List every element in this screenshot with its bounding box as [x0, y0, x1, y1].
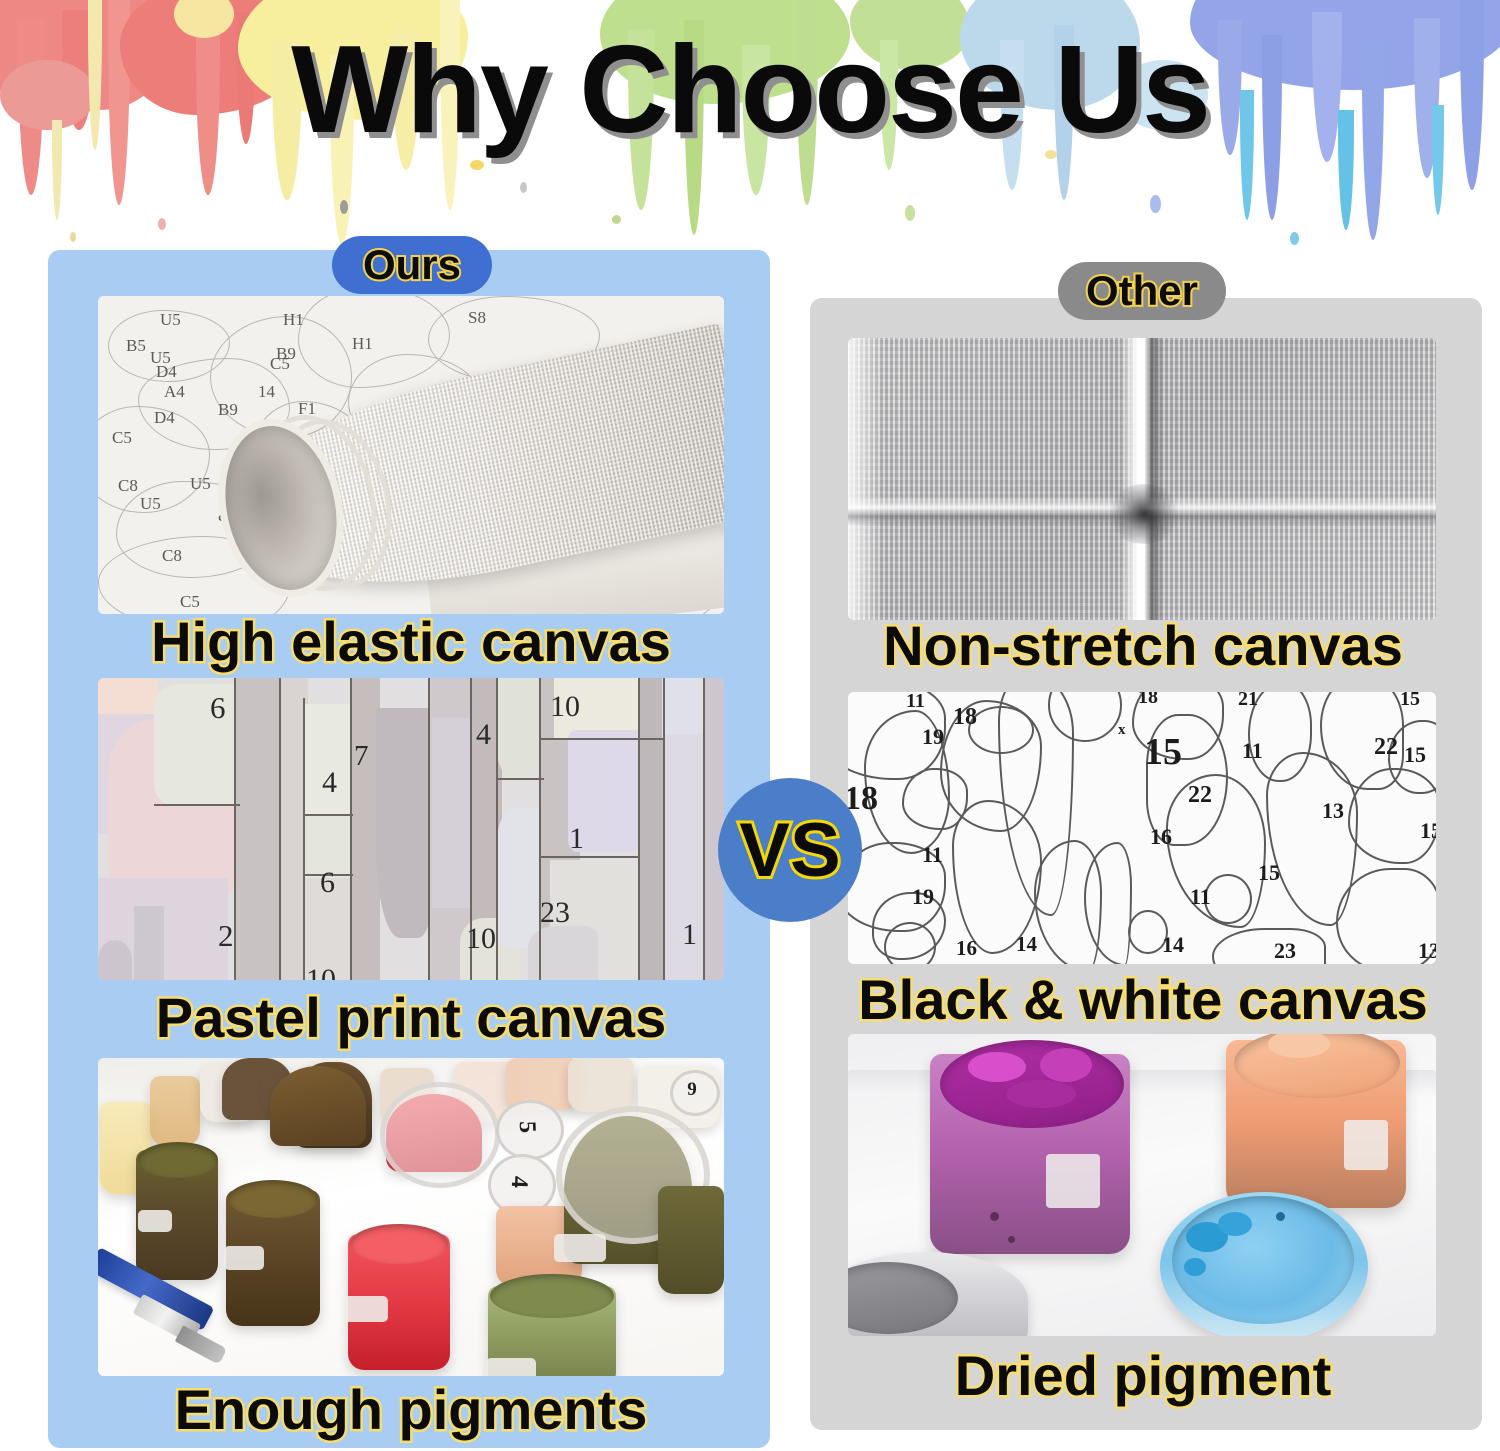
pastel-outline	[428, 678, 430, 980]
line-art-number: 18	[953, 704, 977, 731]
splatter-fleck	[70, 232, 76, 242]
vertical-crease	[1120, 338, 1164, 620]
pastel-outline	[663, 678, 665, 980]
dried-pigment-clump	[1006, 1080, 1076, 1108]
paint-pot-hinge	[554, 1234, 606, 1262]
canvas-code-label: U5	[190, 474, 211, 494]
line-art-number: 16	[1150, 824, 1172, 850]
crease-intersection	[1106, 484, 1182, 544]
line-art-outline	[884, 922, 936, 964]
dried-pigment-clump	[1040, 1048, 1092, 1082]
pastel-region-number: 4	[476, 718, 491, 752]
splatter-fleck	[470, 160, 484, 170]
canvas-code-label: C5	[112, 428, 132, 448]
paint-pot-hinge	[486, 1358, 536, 1376]
pastel-outline	[350, 678, 352, 980]
line-art-number: 15	[1258, 860, 1280, 886]
other-caption-dried-pigment: Dried pigment	[836, 1348, 1450, 1404]
pastel-outline	[303, 698, 305, 980]
pastel-outline	[234, 678, 236, 980]
paint-pot	[568, 1058, 634, 1112]
dried-pigment-clump	[968, 1052, 1026, 1082]
pastel-region-number: 2	[218, 918, 234, 954]
pastel-region-number: 6	[320, 866, 335, 900]
line-art-number: 11	[922, 842, 943, 868]
canvas-code-label: S8	[468, 308, 486, 328]
paint-pot	[150, 1076, 200, 1146]
pastel-region-number: 7	[354, 740, 369, 773]
splatter-fleck	[520, 182, 527, 193]
paint-pot-rim	[350, 1224, 448, 1264]
line-art-number: 15	[1400, 692, 1420, 711]
ours-image-pastel-print-canvas: 6 7 4 4 10 6 2 1 23 10 1 10 9 4	[98, 678, 724, 980]
line-art-number: 18	[1138, 692, 1158, 709]
pastel-outline	[703, 678, 705, 980]
canvas-code-label: U5	[140, 494, 161, 514]
line-art-number: 19	[912, 884, 934, 910]
line-art-number: 19	[922, 724, 944, 750]
pastel-outline	[539, 678, 541, 980]
canvas-code-label: C8	[118, 476, 138, 496]
line-art-number: 15	[1420, 818, 1436, 844]
pastel-region	[98, 940, 132, 980]
pastel-outline	[496, 778, 544, 780]
dried-pigment-clump	[1218, 1212, 1252, 1236]
line-art-number: x	[1118, 722, 1126, 739]
ours-image-enough-pigments: 9 5 4	[98, 1058, 724, 1376]
paint-pot-hinge	[344, 1296, 388, 1322]
page-title: Why Choose Us	[0, 28, 1500, 152]
dried-pigment-fleck	[1008, 1236, 1015, 1243]
paint-pot-hinge	[224, 1246, 264, 1270]
other-caption-non-stretch-canvas: Non-stretch canvas	[836, 618, 1450, 674]
other-image-dried-pigment	[848, 1034, 1436, 1336]
dried-pigment-fleck	[1276, 1212, 1285, 1221]
splatter-fleck	[1150, 195, 1161, 213]
line-art-number: 22	[1374, 734, 1398, 761]
canvas-code-label: U5	[160, 310, 181, 330]
dried-pigment-clump	[1184, 1258, 1206, 1276]
line-art-number: 16	[956, 936, 977, 961]
paint-pot	[658, 1186, 724, 1294]
canvas-code-label: H1	[283, 310, 304, 330]
pastel-region	[134, 906, 164, 980]
pastel-region-number: 23	[540, 896, 570, 930]
canvas-code-label: B9	[218, 400, 238, 420]
pastel-outline	[540, 856, 640, 858]
splatter-fleck	[905, 205, 915, 221]
ours-caption-high-elastic-canvas: High elastic canvas	[98, 614, 724, 670]
pastel-outline	[279, 678, 281, 980]
line-art-number: 18	[848, 780, 878, 818]
canvas-code-label: C8	[162, 546, 182, 566]
other-image-non-stretch-canvas	[848, 338, 1436, 620]
pastel-region	[662, 678, 698, 738]
canvas-code-label: A4	[164, 382, 185, 402]
line-art-number: 15	[1404, 742, 1426, 768]
paint-pot-number-5: 5	[499, 1095, 555, 1159]
paint-pot-rim	[490, 1274, 614, 1318]
line-art-number: 22	[1188, 782, 1212, 809]
pastel-outline	[154, 804, 240, 806]
pastel-region-number: 10	[306, 963, 336, 980]
line-art-number: 11	[1242, 738, 1263, 764]
pastel-region-number: 4	[322, 766, 337, 800]
vs-badge: VS	[718, 778, 862, 922]
pastel-region-number: 6	[210, 690, 226, 726]
line-art-number: 15	[1144, 730, 1182, 774]
paint-pot-lid	[380, 1082, 500, 1188]
pastel-region	[376, 708, 436, 938]
line-art-outline	[1204, 874, 1252, 924]
paint-pot-number-9: 9	[670, 1070, 714, 1110]
pastel-region	[236, 678, 280, 980]
dried-pigment-fleck	[990, 1212, 999, 1221]
ours-caption-pastel-print-canvas: Pastel print canvas	[98, 990, 724, 1046]
paint-pot	[270, 1066, 366, 1146]
line-art-number: 13	[1418, 938, 1436, 964]
other-badge: Other	[1058, 262, 1226, 320]
line-art-number: 23	[1274, 938, 1296, 964]
canvas-code-label: H1	[352, 334, 373, 354]
pastel-outline	[303, 814, 353, 816]
other-caption-black-white-canvas: Black & white canvas	[836, 972, 1450, 1028]
pastel-outline	[540, 738, 664, 740]
splatter-fleck	[158, 218, 166, 230]
paint-pot-rim	[228, 1180, 318, 1218]
canvas-code-label: C5	[180, 592, 200, 612]
pastel-outline	[638, 678, 640, 980]
line-art-number: 14	[1016, 932, 1037, 957]
ours-caption-enough-pigments: Enough pigments	[98, 1382, 724, 1438]
canvas-code-label: B5	[126, 336, 146, 356]
canvas-code-label: 14	[258, 382, 275, 402]
pastel-region-number: 1	[569, 822, 584, 856]
paint-pot-hinge	[138, 1210, 172, 1232]
line-art-number: 21	[1238, 692, 1258, 711]
canvas-code-label: C5	[270, 354, 290, 374]
line-art-number: 13	[1322, 798, 1344, 824]
other-image-black-white-canvas: 11 18 19 18 11 19 16 14 18 x 15 22 16 11…	[848, 692, 1436, 964]
splatter-fleck	[1290, 232, 1299, 245]
line-art-number: 11	[906, 692, 925, 713]
ours-badge: Ours	[332, 236, 492, 294]
pastel-region-number: 10	[466, 922, 496, 956]
line-art-number: 11	[1190, 884, 1211, 910]
splatter-fleck	[340, 200, 348, 214]
canvas-code-label: D4	[156, 362, 177, 382]
ours-image-high-elastic-canvas: U5 H1 S8 B5 U5 B9 C5 H1 D4 A4 14 B9 F1 D…	[98, 296, 724, 614]
line-art-number: 14	[1162, 932, 1184, 958]
splatter-fleck	[612, 215, 621, 224]
pastel-region-number: 10	[550, 690, 580, 724]
pastel-outline	[496, 678, 498, 980]
pastel-region	[496, 678, 542, 778]
dried-paint-pot-tab	[1046, 1154, 1100, 1208]
pastel-region-number: 1	[682, 918, 697, 952]
dried-paint-pot-tab	[1344, 1120, 1388, 1170]
canvas-code-label: D4	[154, 408, 175, 428]
paint-pot-rim	[138, 1142, 218, 1178]
paint-pot-number-4: 4	[490, 1150, 548, 1214]
